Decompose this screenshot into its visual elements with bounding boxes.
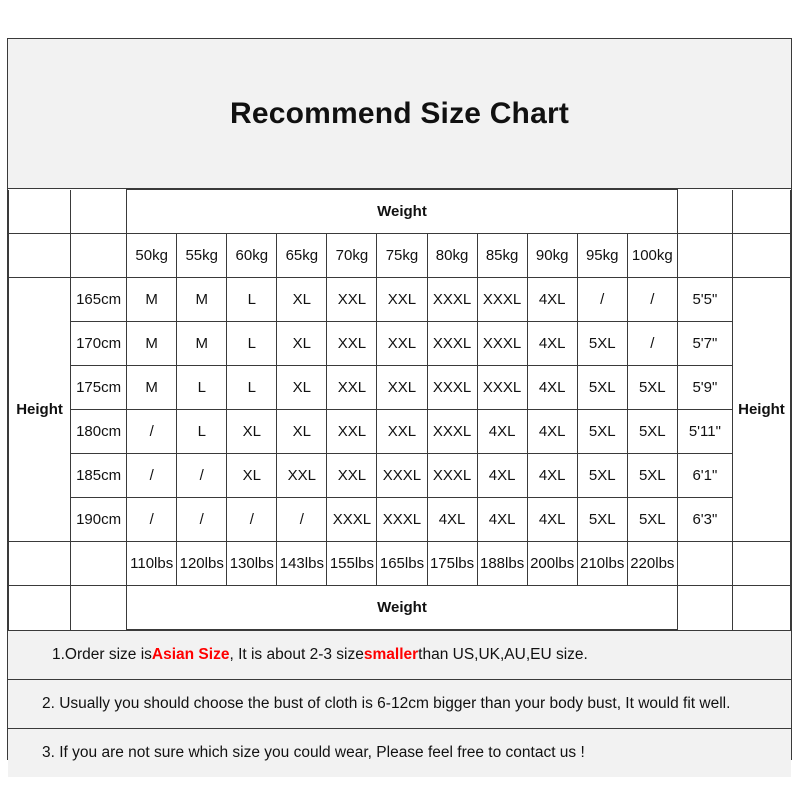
- note-1-text-part3: than US,UK,AU,EU size.: [418, 646, 588, 664]
- size-cell: /: [177, 498, 227, 542]
- size-cell: XL: [227, 410, 277, 454]
- blank-right-kg: [677, 234, 732, 278]
- lbs-header-row: 110lbs 120lbs 130lbs 143lbs 155lbs 165lb…: [9, 542, 791, 586]
- size-cell: XXXL: [327, 498, 377, 542]
- size-cell: 5XL: [577, 454, 627, 498]
- size-cell: XXXL: [377, 498, 427, 542]
- size-cell: /: [127, 410, 177, 454]
- size-cell: XXL: [377, 322, 427, 366]
- size-chart-frame: Recommend Size Chart Weight: [7, 38, 792, 760]
- size-cell: 5XL: [627, 366, 677, 410]
- weight-header-bottom: Weight: [127, 586, 678, 630]
- table-row: 185cm / / XL XXL XXL XXXL XXXL 4XL 4XL 5…: [9, 454, 791, 498]
- note-1-highlight-smaller: smaller: [364, 646, 418, 664]
- size-cell: /: [627, 322, 677, 366]
- size-cell: L: [227, 278, 277, 322]
- blank-right-lbs2: [732, 542, 790, 586]
- col-header-lbs: 188lbs: [477, 542, 527, 586]
- size-cell: L: [227, 322, 277, 366]
- col-header-kg: 60kg: [227, 234, 277, 278]
- col-header-kg: 95kg: [577, 234, 627, 278]
- table-row: 170cm M M L XL XXL XXL XXXL XXXL 4XL 5XL…: [9, 322, 791, 366]
- col-header-lbs: 120lbs: [177, 542, 227, 586]
- row-header-cm: 185cm: [71, 454, 127, 498]
- size-cell: 4XL: [527, 278, 577, 322]
- size-cell: XXXL: [427, 322, 477, 366]
- size-cell: 4XL: [427, 498, 477, 542]
- size-cell: /: [577, 278, 627, 322]
- row-header-ft: 6'1": [677, 454, 732, 498]
- corner-blank-topleft: [9, 190, 71, 234]
- corner-blank-topleft2: [71, 190, 127, 234]
- size-cell: XL: [277, 278, 327, 322]
- size-cell: 4XL: [527, 454, 577, 498]
- size-cell: 4XL: [527, 498, 577, 542]
- size-cell: 5XL: [577, 366, 627, 410]
- size-chart-table: Weight 50kg 55kg 60kg 65kg 70kg 75kg 80k…: [8, 189, 791, 630]
- row-header-ft: 5'9": [677, 366, 732, 410]
- size-cell: XXL: [377, 366, 427, 410]
- size-cell: 5XL: [577, 322, 627, 366]
- size-cell: 4XL: [477, 410, 527, 454]
- col-header-lbs: 110lbs: [127, 542, 177, 586]
- size-cell: L: [227, 366, 277, 410]
- size-cell: 4XL: [527, 322, 577, 366]
- kg-header-row: 50kg 55kg 60kg 65kg 70kg 75kg 80kg 85kg …: [9, 234, 791, 278]
- col-header-kg: 70kg: [327, 234, 377, 278]
- size-cell: XXXL: [477, 322, 527, 366]
- height-header-left: Height: [9, 278, 71, 542]
- size-cell: M: [177, 278, 227, 322]
- table-row: 175cm M L L XL XXL XXL XXXL XXXL 4XL 5XL…: [9, 366, 791, 410]
- size-cell: 5XL: [577, 498, 627, 542]
- blank-right-lbs: [677, 542, 732, 586]
- size-cell: 4XL: [477, 498, 527, 542]
- col-header-lbs: 220lbs: [627, 542, 677, 586]
- size-cell: XXL: [377, 410, 427, 454]
- height-header-right: Height: [732, 278, 790, 542]
- weight-header-top: Weight: [127, 190, 678, 234]
- table-row: 190cm / / / / XXXL XXXL 4XL 4XL 4XL 5XL …: [9, 498, 791, 542]
- col-header-lbs: 155lbs: [327, 542, 377, 586]
- size-cell: 5XL: [627, 498, 677, 542]
- size-cell: /: [227, 498, 277, 542]
- col-header-lbs: 165lbs: [377, 542, 427, 586]
- row-header-ft: 5'5": [677, 278, 732, 322]
- size-cell: 5XL: [627, 454, 677, 498]
- blank-right-kg2: [732, 234, 790, 278]
- col-header-lbs: 210lbs: [577, 542, 627, 586]
- note-1-text-part2: , It is about 2-3 size: [229, 646, 363, 664]
- size-cell: XL: [277, 410, 327, 454]
- size-cell: XXL: [327, 278, 377, 322]
- row-header-ft: 5'7": [677, 322, 732, 366]
- note-1-text-part1: 1.Order size is: [52, 646, 152, 664]
- col-header-lbs: 175lbs: [427, 542, 477, 586]
- blank-left-lbs2: [71, 542, 127, 586]
- note-2: 2. Usually you should choose the bust of…: [8, 679, 791, 728]
- size-cell: XL: [277, 322, 327, 366]
- size-cell: M: [127, 322, 177, 366]
- note-1: 1.Order size is Asian Size, It is about …: [8, 630, 791, 679]
- col-header-kg: 55kg: [177, 234, 227, 278]
- title-area: Recommend Size Chart: [8, 39, 791, 189]
- row-header-cm: 170cm: [71, 322, 127, 366]
- col-header-kg: 90kg: [527, 234, 577, 278]
- blank-left-lbs: [9, 542, 71, 586]
- row-header-ft: 6'3": [677, 498, 732, 542]
- size-cell: 5XL: [627, 410, 677, 454]
- col-header-kg: 80kg: [427, 234, 477, 278]
- corner-blank-bottomleft: [9, 586, 71, 630]
- size-cell: /: [177, 454, 227, 498]
- blank-left-kg2: [71, 234, 127, 278]
- size-cell: L: [177, 366, 227, 410]
- size-cell: XXXL: [427, 454, 477, 498]
- size-cell: /: [277, 498, 327, 542]
- table-row: 180cm / L XL XL XXL XXL XXXL 4XL 4XL 5XL…: [9, 410, 791, 454]
- note-3-text: 3. If you are not sure which size you co…: [42, 744, 585, 762]
- size-cell: M: [127, 278, 177, 322]
- size-cell: XXXL: [427, 366, 477, 410]
- row-header-cm: 180cm: [71, 410, 127, 454]
- row-header-cm: 175cm: [71, 366, 127, 410]
- size-cell: L: [177, 410, 227, 454]
- size-cell: 4XL: [527, 410, 577, 454]
- size-cell: XXL: [377, 278, 427, 322]
- size-cell: /: [127, 498, 177, 542]
- size-cell: 5XL: [577, 410, 627, 454]
- page-title: Recommend Size Chart: [230, 97, 569, 131]
- note-1-highlight-asian-size: Asian Size: [152, 646, 230, 664]
- size-cell: XL: [277, 366, 327, 410]
- size-cell: XXXL: [427, 278, 477, 322]
- size-cell: M: [177, 322, 227, 366]
- weight-banner-row: Weight: [9, 190, 791, 234]
- col-header-kg: 85kg: [477, 234, 527, 278]
- col-header-kg: 65kg: [277, 234, 327, 278]
- corner-blank-topright: [677, 190, 732, 234]
- col-header-lbs: 200lbs: [527, 542, 577, 586]
- size-cell: /: [627, 278, 677, 322]
- size-cell: XL: [227, 454, 277, 498]
- size-cell: XXL: [277, 454, 327, 498]
- size-cell: 4XL: [477, 454, 527, 498]
- corner-blank-bottomright2: [732, 586, 790, 630]
- col-header-lbs: 130lbs: [227, 542, 277, 586]
- size-cell: XXXL: [377, 454, 427, 498]
- size-cell: XXL: [327, 366, 377, 410]
- col-header-kg: 50kg: [127, 234, 177, 278]
- weight-banner-bottom-row: Weight: [9, 586, 791, 630]
- row-header-cm: 190cm: [71, 498, 127, 542]
- size-cell: XXXL: [477, 278, 527, 322]
- col-header-kg: 100kg: [627, 234, 677, 278]
- corner-blank-bottomleft2: [71, 586, 127, 630]
- size-cell: XXXL: [427, 410, 477, 454]
- blank-left-kg: [9, 234, 71, 278]
- col-header-lbs: 143lbs: [277, 542, 327, 586]
- size-cell: XXL: [327, 454, 377, 498]
- row-header-ft: 5'11": [677, 410, 732, 454]
- col-header-kg: 75kg: [377, 234, 427, 278]
- note-3: 3. If you are not sure which size you co…: [8, 728, 791, 777]
- corner-blank-bottomright: [677, 586, 732, 630]
- table-row: Height 165cm M M L XL XXL XXL XXXL XXXL …: [9, 278, 791, 322]
- size-cell: XXXL: [477, 366, 527, 410]
- size-cell: 4XL: [527, 366, 577, 410]
- size-cell: XXL: [327, 410, 377, 454]
- size-cell: XXL: [327, 322, 377, 366]
- note-2-text: 2. Usually you should choose the bust of…: [42, 695, 730, 713]
- size-cell: /: [127, 454, 177, 498]
- row-header-cm: 165cm: [71, 278, 127, 322]
- size-cell: M: [127, 366, 177, 410]
- corner-blank-topright2: [732, 190, 790, 234]
